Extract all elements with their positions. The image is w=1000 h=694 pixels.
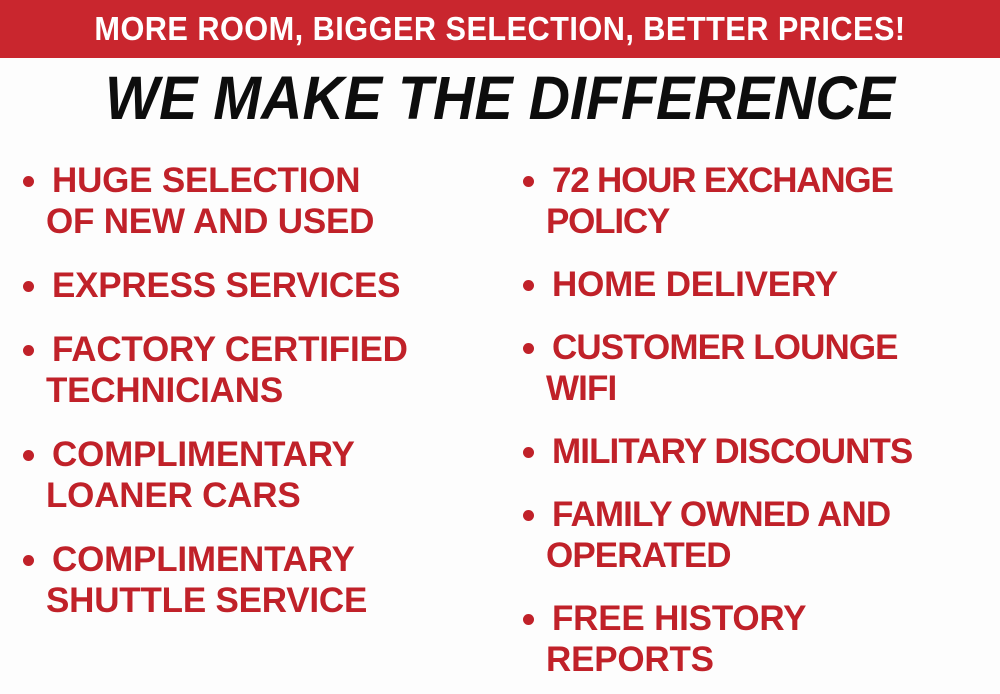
list-item-line-2: WIFI	[546, 368, 1000, 409]
list-item-text: MILITARY DISCOUNTS	[552, 431, 1000, 472]
list-item-text: FREE HISTORY REPORTS	[552, 598, 1000, 680]
list-item: FACTORY CERTIFIED TECHNICIANS	[18, 329, 498, 411]
list-item-line-1: COMPLIMENTARY	[52, 539, 498, 580]
list-item-text: EXPRESS SERVICES	[52, 265, 498, 306]
list-item-text: HOME DELIVERY	[552, 264, 1000, 305]
list-item: HOME DELIVERY	[518, 264, 1000, 305]
list-item: COMPLIMENTARY SHUTTLE SERVICE	[18, 539, 498, 621]
list-item-text: 72 HOUR EXCHANGE POLICY	[552, 160, 1000, 242]
page-title: WE MAKE THE DIFFERENCE	[30, 66, 970, 130]
bullet-dot-icon	[523, 447, 534, 458]
bullet-dot-icon	[23, 345, 34, 356]
list-item-text: COMPLIMENTARY SHUTTLE SERVICE	[52, 539, 498, 621]
bullet-dot-icon	[523, 343, 534, 354]
list-item-line-2: OPERATED	[546, 535, 1000, 576]
list-item-line-1: HOME DELIVERY	[552, 264, 1000, 305]
list-item: 72 HOUR EXCHANGE POLICY	[518, 160, 1000, 242]
list-item-line-1: MILITARY DISCOUNTS	[552, 431, 1000, 472]
list-item-line-2: LOANER CARS	[46, 475, 498, 516]
list-item: MILITARY DISCOUNTS	[518, 431, 1000, 472]
list-item-line-1: FREE HISTORY	[552, 598, 1000, 639]
list-item: FREE HISTORY REPORTS	[518, 598, 1000, 680]
list-item-line-1: CUSTOMER LOUNGE	[552, 327, 1000, 368]
top-banner: MORE ROOM, BIGGER SELECTION, BETTER PRIC…	[0, 0, 1000, 58]
list-item-line-1: FAMILY OWNED AND	[552, 494, 1000, 535]
list-item-line-2: REPORTS	[546, 639, 1000, 680]
list-item-line-2: SHUTTLE SERVICE	[46, 580, 498, 621]
bullet-dot-icon	[523, 176, 534, 187]
bullet-dot-icon	[23, 281, 34, 292]
bullet-dot-icon	[523, 510, 534, 521]
list-item-text: COMPLIMENTARY LOANER CARS	[52, 434, 498, 516]
list-item-text: CUSTOMER LOUNGE WIFI	[552, 327, 1000, 409]
list-item-text: FAMILY OWNED AND OPERATED	[552, 494, 1000, 576]
bullet-dot-icon	[523, 614, 534, 625]
list-item-line-1: FACTORY CERTIFIED	[52, 329, 498, 370]
list-item-line-1: 72 HOUR EXCHANGE	[552, 160, 1000, 201]
list-item-line-1: COMPLIMENTARY	[52, 434, 498, 475]
list-item: FAMILY OWNED AND OPERATED	[518, 494, 1000, 576]
promo-poster: MORE ROOM, BIGGER SELECTION, BETTER PRIC…	[0, 0, 1000, 694]
bullet-dot-icon	[23, 450, 34, 461]
list-item: COMPLIMENTARY LOANER CARS	[18, 434, 498, 516]
list-item-line-1: EXPRESS SERVICES	[52, 265, 498, 306]
bullet-dot-icon	[23, 176, 34, 187]
list-item: CUSTOMER LOUNGE WIFI	[518, 327, 1000, 409]
list-item-line-2: POLICY	[546, 201, 1000, 242]
benefits-column-left: HUGE SELECTION OF NEW AND USED EXPRESS S…	[18, 160, 498, 644]
list-item-line-2: TECHNICIANS	[46, 370, 498, 411]
list-item: EXPRESS SERVICES	[18, 265, 498, 306]
list-item: HUGE SELECTION OF NEW AND USED	[18, 160, 498, 242]
list-item-line-1: HUGE SELECTION	[52, 160, 498, 201]
bullet-dot-icon	[23, 555, 34, 566]
bullet-dot-icon	[523, 280, 534, 291]
list-item-text: FACTORY CERTIFIED TECHNICIANS	[52, 329, 498, 411]
list-item-text: HUGE SELECTION OF NEW AND USED	[52, 160, 498, 242]
list-item-line-2: OF NEW AND USED	[46, 201, 498, 242]
banner-headline-text: MORE ROOM, BIGGER SELECTION, BETTER PRIC…	[35, 0, 965, 58]
benefits-column-right: 72 HOUR EXCHANGE POLICY HOME DELIVERY CU…	[518, 160, 1000, 694]
